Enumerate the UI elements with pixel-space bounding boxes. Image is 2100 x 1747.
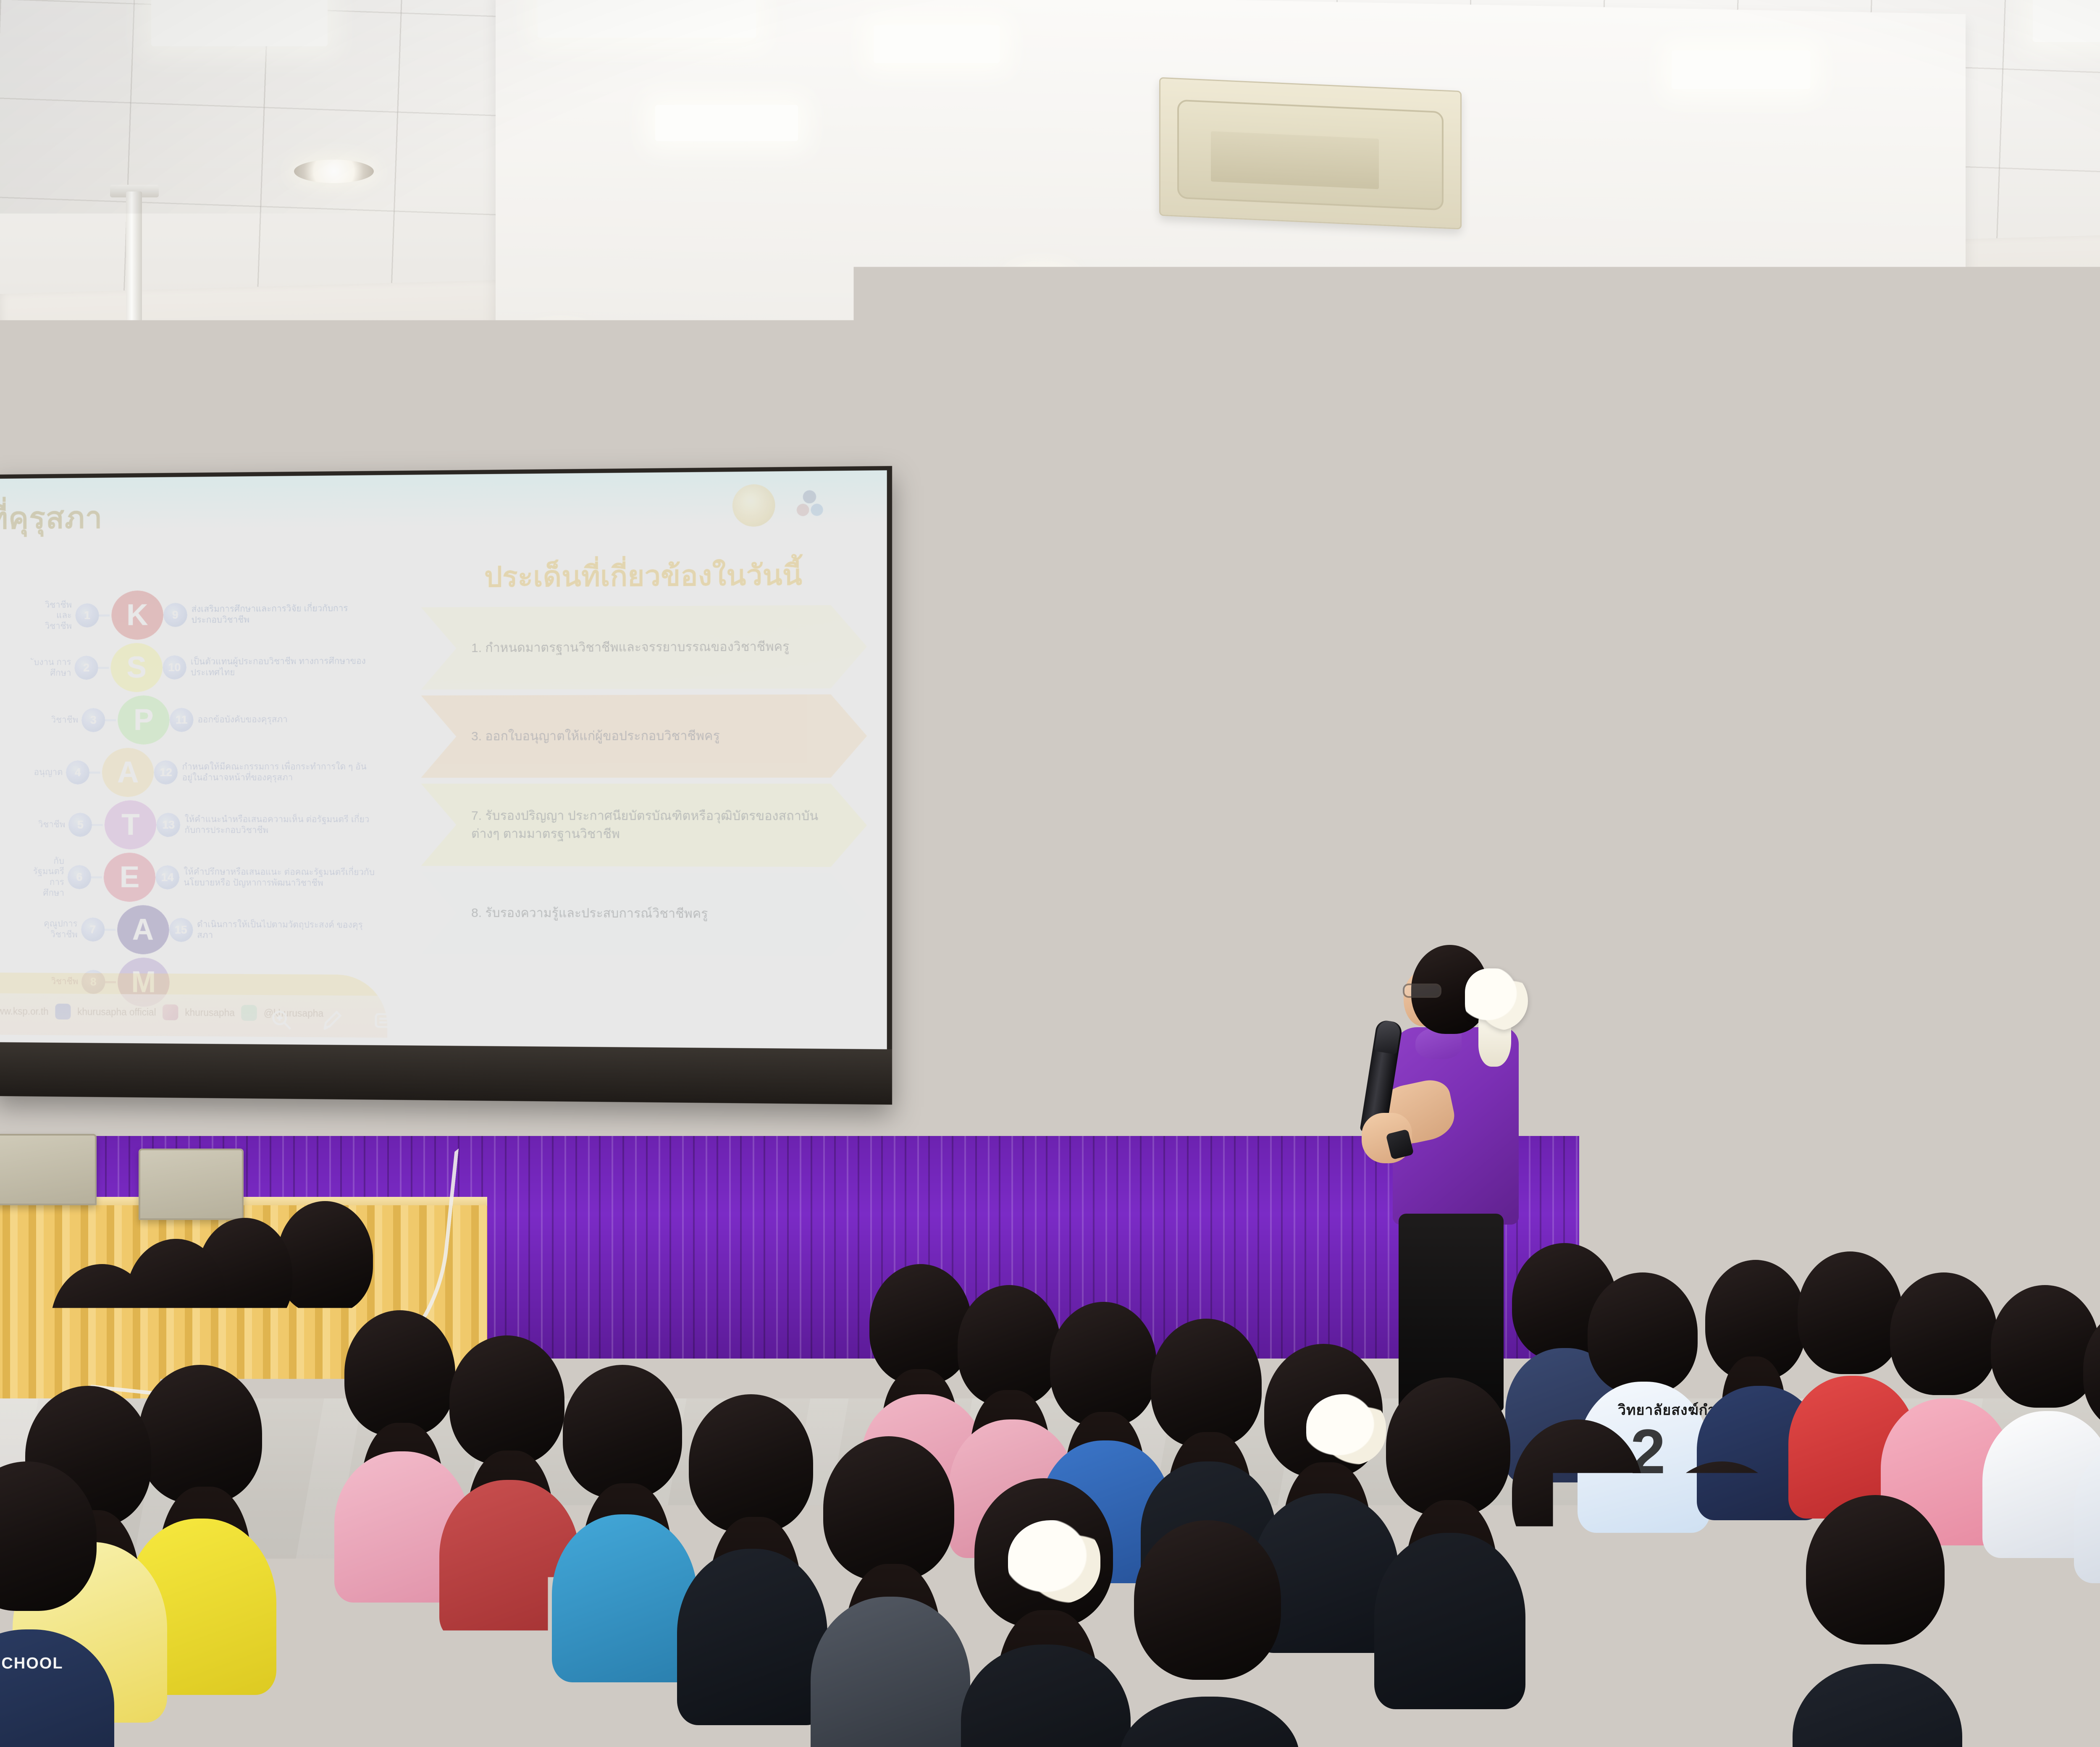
head xyxy=(1890,1272,1998,1395)
ksp-left-text: อนุญาต xyxy=(33,767,66,778)
slide-view-icon[interactable] xyxy=(374,1010,396,1031)
ksp-connector xyxy=(91,876,102,878)
khurusapha-seal-icon xyxy=(732,484,775,527)
ksp-letter: P xyxy=(118,695,170,745)
laptop[interactable] xyxy=(0,1134,97,1205)
ksp-number: 4 xyxy=(66,761,90,784)
slide-arrow-2: 3. ออกใบอนุญาตให้แก่ผู้ขอประกอบวิชาชีพคร… xyxy=(421,694,867,778)
ksp-right-text: กำหนดให้มีคณะกรรมการ เพื่อกระทำการใด ๆ อ… xyxy=(178,761,377,783)
torso xyxy=(961,1645,1131,1747)
ksp-row: วิชาชีพและ วิชาชีพ 1 K 9 ส่งเสริมการศึกษ… xyxy=(33,588,377,642)
ksp-right-text: ให้คำปรึกษาหรือเสนอแนะ ต่อคณะรัฐมนตรีเกี… xyxy=(179,867,376,889)
ksp-right-text: ดำเนินการให้เป็นไปตามวัตถุประสงค์ ของคุร… xyxy=(193,919,376,942)
ksp-connector xyxy=(99,614,110,616)
audience-member xyxy=(563,1365,685,1671)
head xyxy=(563,1365,682,1498)
present-view-icon[interactable] xyxy=(478,1010,500,1032)
projection-screen: ที่คุรุสภา วิชาชีพและ วิชาชีพ 1 K 9 ส่งเ… xyxy=(0,470,887,1049)
ksp-letter: S xyxy=(110,643,163,692)
ksp-row: วิชาชีพ 5 T 13 ให้คำแนะนำหรือเสนอความเห็… xyxy=(33,799,377,852)
torso xyxy=(1793,1664,1962,1747)
audience-member xyxy=(974,1478,1117,1747)
ksp-number: 2 xyxy=(74,656,98,680)
downlight xyxy=(1898,365,1970,386)
zoom-in-icon[interactable] xyxy=(270,1009,292,1031)
downlight xyxy=(529,332,592,350)
ksp-letter: A xyxy=(102,748,154,797)
stage-spotlight xyxy=(1310,489,1394,594)
presentation-toolbar[interactable] xyxy=(0,993,887,1049)
head xyxy=(1134,1520,1281,1680)
head xyxy=(1386,1377,1510,1516)
lectern-stem xyxy=(1742,1138,1770,1264)
ksp-connector xyxy=(105,719,116,721)
slide-arrow-1: 1. กำหนดมาตรฐานวิชาชีพและจรรยาบรรณของวิช… xyxy=(421,605,867,690)
head xyxy=(1798,1251,1903,1374)
presentation-slide: ที่คุรุสภา วิชาชีพและ วิชาชีพ 1 K 9 ส่งเ… xyxy=(0,470,887,1049)
wall-rod xyxy=(2097,504,2100,739)
presenter-glasses-icon xyxy=(1403,984,1441,998)
ksp-connector xyxy=(98,666,109,669)
head xyxy=(1512,1419,1643,1564)
torso xyxy=(1499,1582,1660,1747)
ksp-left-text: คุณูปการ วิชาชีพ xyxy=(33,918,81,940)
curtain-swag xyxy=(899,546,1084,727)
slide-arrow-stack: ประเด็นที่เกี่ยวข้องในวันนี้ 1. กำหนดมาต… xyxy=(421,551,867,963)
slide-logos xyxy=(732,483,831,527)
audience-member xyxy=(823,1436,958,1747)
audience-member xyxy=(1386,1377,1512,1697)
ksp-number: 7 xyxy=(81,918,105,942)
ksp-right-number: 13 xyxy=(157,813,181,837)
slide-arrow-4: 8. รับรองความรู้และประสบการณ์วิชาชีพครู xyxy=(421,872,867,956)
stage-spotlight xyxy=(1067,477,1151,582)
ministry-emblem-icon xyxy=(790,484,831,525)
downlight xyxy=(1012,269,1071,286)
audience-member xyxy=(1512,1419,1646,1747)
slide-arrow-title: ประเด็นที่เกี่ยวข้องในวันนี้ xyxy=(421,551,867,600)
downlight xyxy=(1432,395,1483,410)
audience-member xyxy=(1806,1495,1949,1747)
head xyxy=(869,1264,972,1384)
downlight xyxy=(294,160,374,183)
ksp-team-diagram: วิชาชีพและ วิชาชีพ 1 K 9 ส่งเสริมการศึกษ… xyxy=(33,588,377,1010)
stage-spotlight xyxy=(1184,483,1268,588)
presenter-hair-bow xyxy=(1465,968,1528,1031)
projector-mount-pole xyxy=(126,191,142,372)
projection-screen-frame: ที่คุรุสภา วิชาชีพและ วิชาชีพ 1 K 9 ส่งเ… xyxy=(0,466,892,1105)
ksp-left-text: กับรัฐมนตรี การศึกษา xyxy=(33,856,68,898)
ksp-left-text: วิชาชีพ xyxy=(33,819,68,830)
head xyxy=(1588,1272,1698,1394)
ksp-row: ับงาน การศึกษา 2 S 10 เป็นตัวแทนผู้ประกอ… xyxy=(33,640,377,694)
ksp-right-number: 14 xyxy=(155,865,179,889)
head xyxy=(958,1285,1061,1406)
ksp-left-text: วิชาชีพ xyxy=(33,715,81,726)
ksp-row: อนุญาต 4 A 12 กำหนดให้มีคณะกรรมการ เพื่อ… xyxy=(33,746,377,799)
ksp-right-text: ให้คำแนะนำหรือเสนอความเห็น ต่อรัฐมนตรี เ… xyxy=(181,814,377,836)
head xyxy=(2083,1306,2100,1432)
torso xyxy=(552,1514,697,1682)
ksp-row: กับรัฐมนตรี การศึกษา 6 E 14 ให้คำปรึกษาห… xyxy=(33,851,377,904)
ksp-connector xyxy=(92,824,103,826)
audience-member xyxy=(689,1394,815,1713)
ksp-right-text: เป็นตัวแทนผู้ประกอบวิชาชีพ ทางการศึกษาขอ… xyxy=(186,656,376,678)
ksp-right-number: 15 xyxy=(169,918,193,942)
head xyxy=(139,1365,262,1503)
exit-fullscreen-icon[interactable] xyxy=(583,1011,604,1033)
head xyxy=(0,1285,39,1408)
panel-light xyxy=(655,105,798,141)
stage-spotlight xyxy=(1436,496,1520,601)
pen-icon[interactable] xyxy=(322,1009,344,1031)
green-ribbon-icon xyxy=(2085,580,2100,598)
ksp-letter: A xyxy=(117,905,169,954)
truss-cables xyxy=(1079,446,1533,475)
ksp-right-number: 11 xyxy=(170,708,194,732)
ksp-letter: E xyxy=(104,853,156,902)
ksp-connector xyxy=(90,771,100,774)
ksp-right-text: ส่งเสริมการศึกษาและการวิจัย เกี่ยวกับการ… xyxy=(187,603,377,625)
subtitles-icon[interactable] xyxy=(426,1010,448,1032)
ksp-number: 3 xyxy=(81,708,105,732)
head xyxy=(689,1394,813,1533)
hair-bow xyxy=(1306,1394,1386,1466)
head xyxy=(1806,1495,1945,1645)
ksp-right-text: ออกข้อบังคับของคุรุสภา xyxy=(194,714,288,725)
ksp-right-number: 9 xyxy=(163,603,187,627)
ksp-number: 1 xyxy=(75,603,99,628)
ksp-row: วิชาชีพ 3 P 11 ออกข้อบังคับของคุรุสภา xyxy=(33,693,377,746)
spotlight-lens xyxy=(1323,536,1382,561)
panel-light xyxy=(538,0,756,38)
head xyxy=(449,1335,564,1465)
ksp-left-text: วิชาชีพและ วิชาชีพ xyxy=(33,600,75,632)
audience-member xyxy=(2083,1306,2100,1575)
panel-light xyxy=(1672,50,1810,89)
ksp-right-number: 10 xyxy=(163,655,186,679)
carved-lectern xyxy=(1651,1100,1869,1142)
swag-folds xyxy=(899,546,1084,727)
audience-member xyxy=(1655,1461,1793,1747)
screen-bottom-bar xyxy=(0,1042,892,1105)
ksp-letter: T xyxy=(105,800,157,850)
torso xyxy=(0,1629,114,1747)
ksp-right-number: 12 xyxy=(154,760,178,784)
head xyxy=(344,1310,455,1436)
audience-member xyxy=(0,1285,42,1554)
ksp-number: 5 xyxy=(68,813,92,837)
head xyxy=(823,1436,954,1581)
head xyxy=(1151,1319,1262,1447)
torso xyxy=(811,1597,970,1747)
head xyxy=(1050,1302,1157,1426)
auditorium-photo: ที่คุรุสภา วิชาชีพและ วิชาชีพ 1 K 9 ส่งเ… xyxy=(0,0,2100,1747)
spotlight-lens xyxy=(1449,543,1508,567)
spotlight-lens xyxy=(1079,524,1138,548)
ksp-row: คุณูปการ วิชาชีพ 7 A 15 ดำเนินการให้เป็น… xyxy=(33,903,377,957)
ksp-letter: K xyxy=(111,590,163,640)
panel-light xyxy=(874,25,1000,63)
more-options-icon[interactable] xyxy=(530,1011,552,1033)
ksp-left-text: ับงาน การศึกษา xyxy=(33,657,75,679)
hair-bow xyxy=(1008,1520,1100,1604)
ksp-connector xyxy=(105,929,115,931)
torso xyxy=(1641,1628,1807,1747)
torso xyxy=(677,1549,827,1725)
audience-member xyxy=(449,1335,567,1629)
panel-light xyxy=(2033,0,2100,42)
audience-member xyxy=(1134,1520,1285,1747)
head xyxy=(1655,1461,1789,1608)
panel-light xyxy=(151,0,328,46)
spotlight-lens xyxy=(1197,530,1256,554)
slide-arrow-3: 7. รับรองปริญญา ประกาศนียบัตรบัณฑิตหรือว… xyxy=(421,784,867,867)
red-carpet-floor xyxy=(1571,1151,2016,1235)
navy-shirt-text: SCHOOL xyxy=(0,1655,63,1673)
ksp-number: 6 xyxy=(68,865,92,889)
torso xyxy=(1120,1697,1299,1747)
slide-header-text: ที่คุรุสภา xyxy=(0,493,102,543)
ceiling-ac-unit xyxy=(1159,77,1462,230)
